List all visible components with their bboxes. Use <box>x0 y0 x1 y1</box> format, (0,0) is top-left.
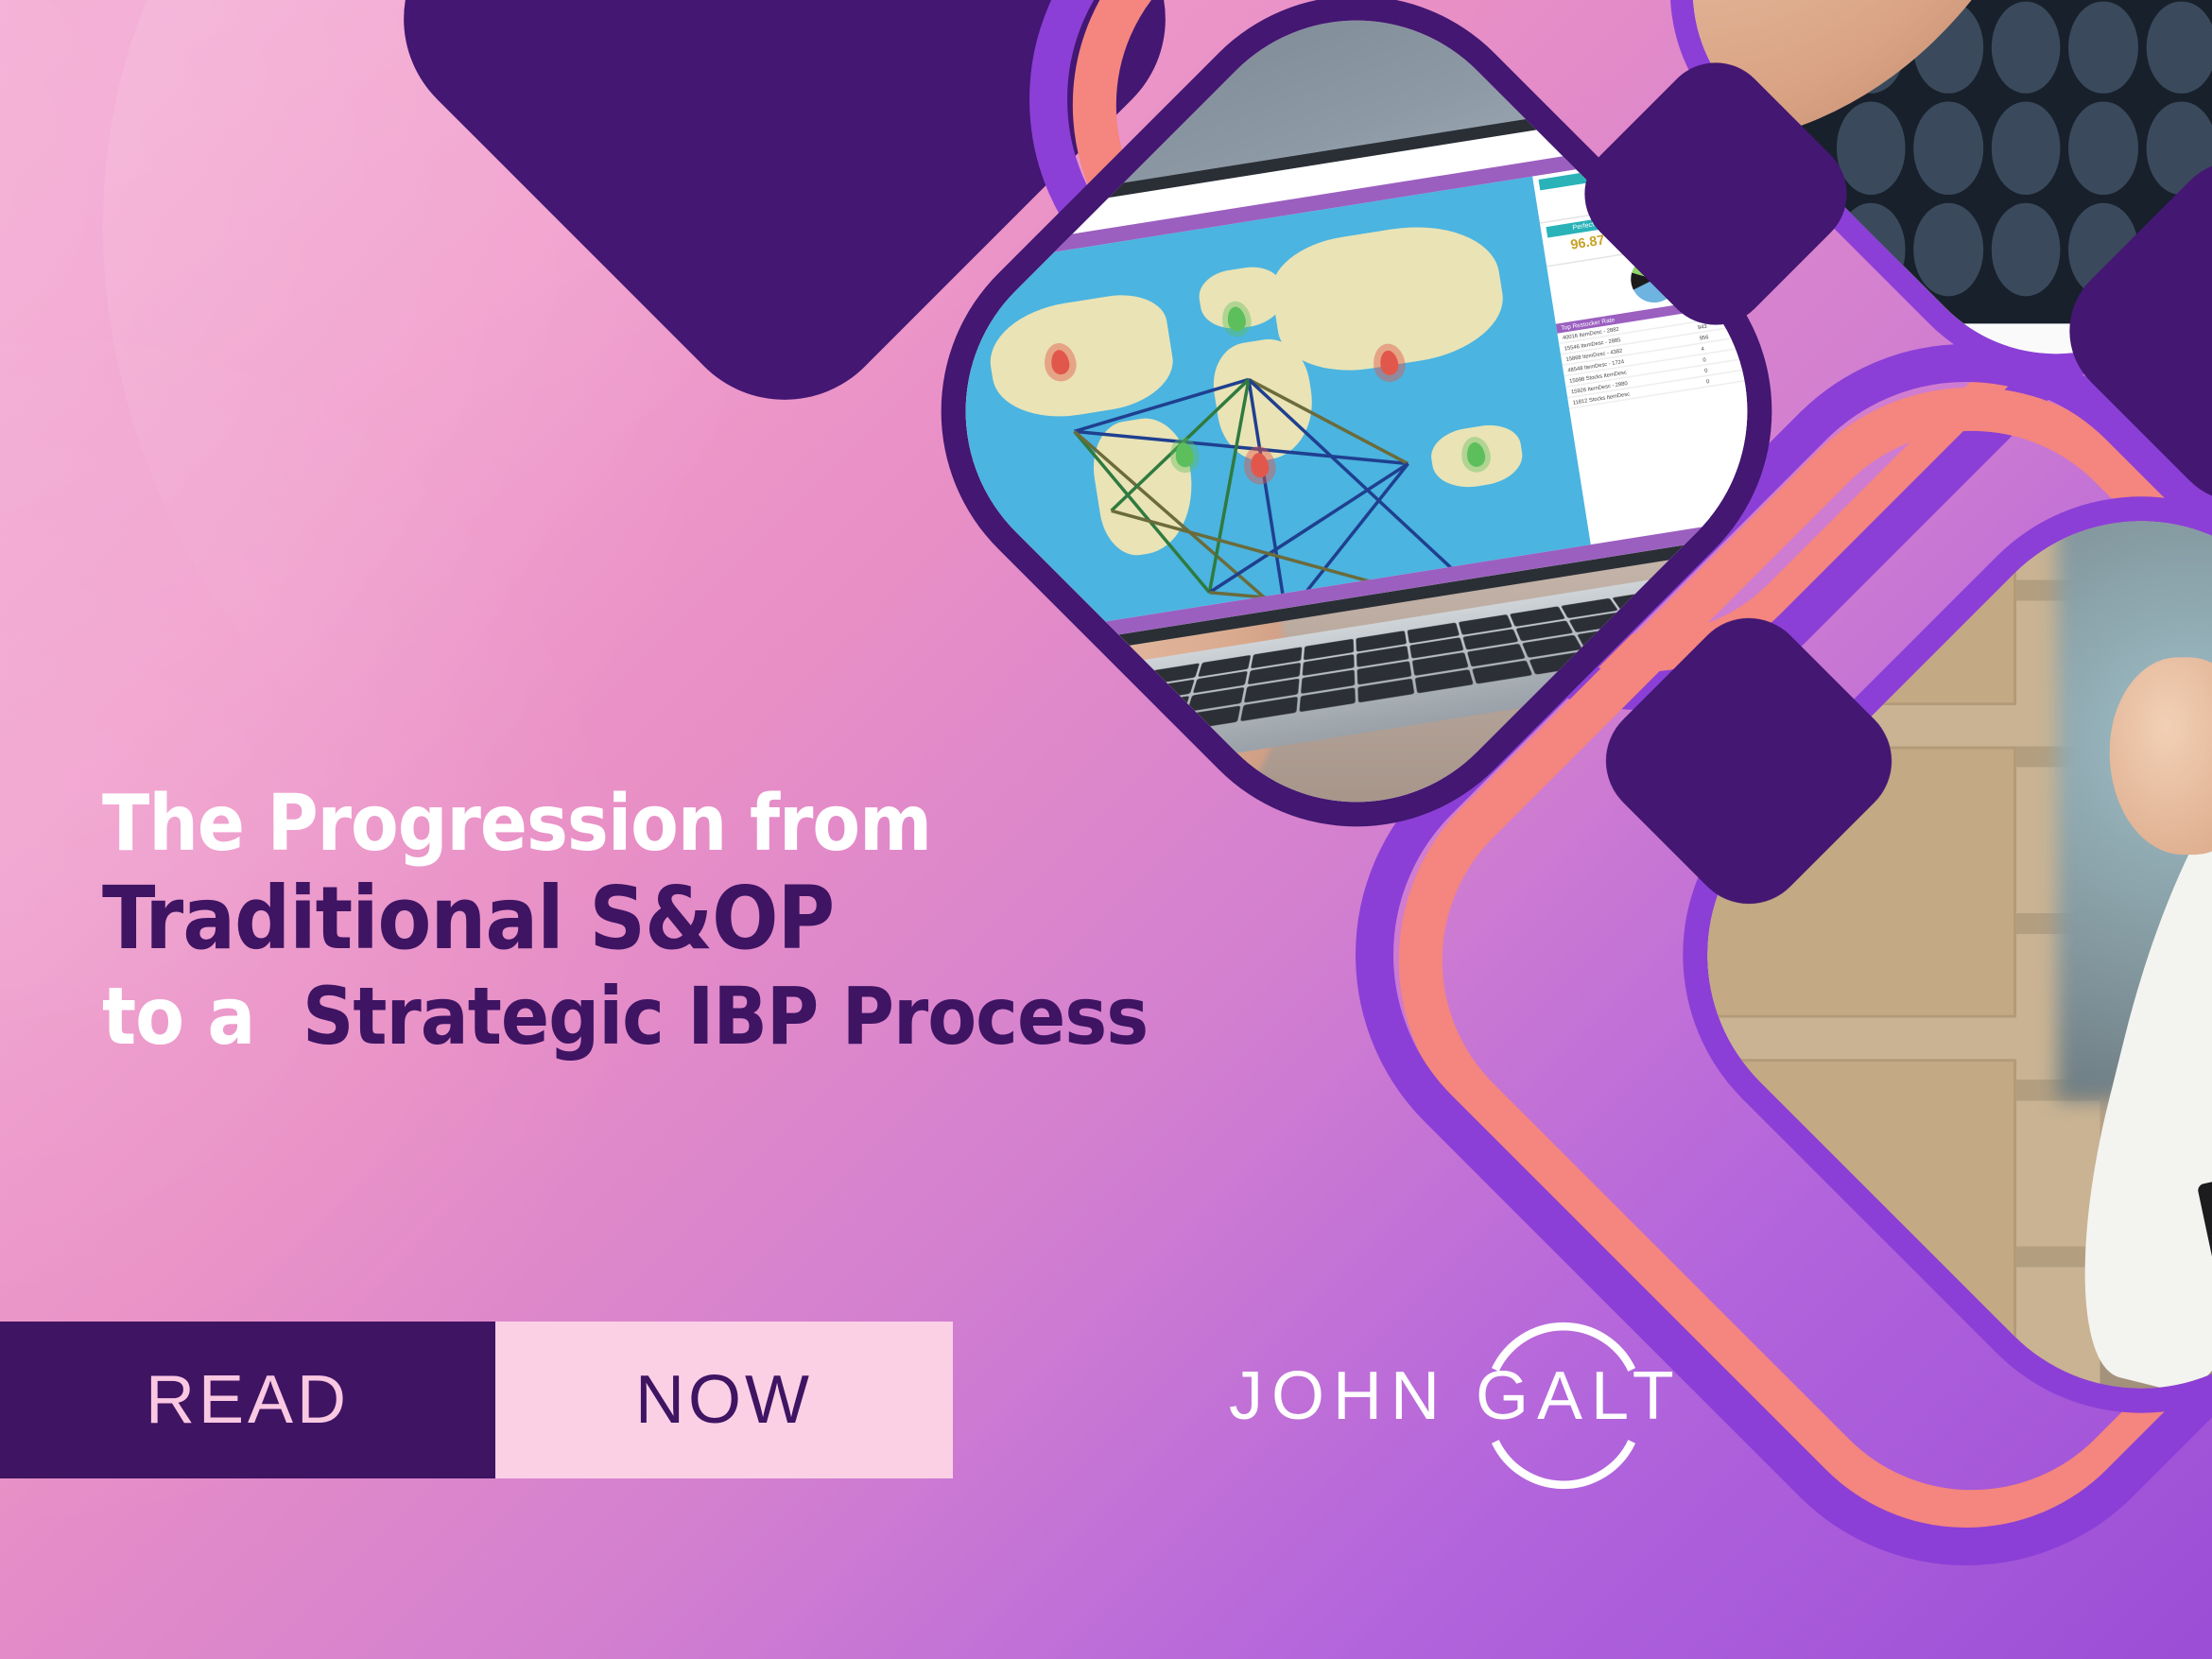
cta-now-half[interactable]: NOW <box>495 1322 953 1478</box>
headline-line-3-plain: to a <box>102 970 254 1063</box>
cta-now-label: NOW <box>635 1361 813 1439</box>
headline-line-3: to a Strategic IBP Process <box>102 971 1218 1063</box>
logo-wordmark: JOHN GALT <box>1229 1357 1720 1435</box>
cta-read-half[interactable]: READ <box>0 1322 495 1478</box>
john-galt-logo[interactable]: JOHN GALT <box>1229 1322 1720 1492</box>
headline-line-2: Traditional S&OP <box>102 867 1218 971</box>
read-now-cta[interactable]: READ NOW <box>0 1322 953 1478</box>
cta-read-label: READ <box>146 1361 350 1439</box>
headline-line-1: The Progression from <box>102 783 1218 867</box>
headline-block: The Progression from Traditional S&OP to… <box>102 783 1218 1063</box>
marketing-banner: Forecast Accuracy 93.01 % Perfect Order … <box>0 0 2212 1659</box>
headline-line-3-emphasis: Strategic IBP Process <box>302 970 1148 1063</box>
